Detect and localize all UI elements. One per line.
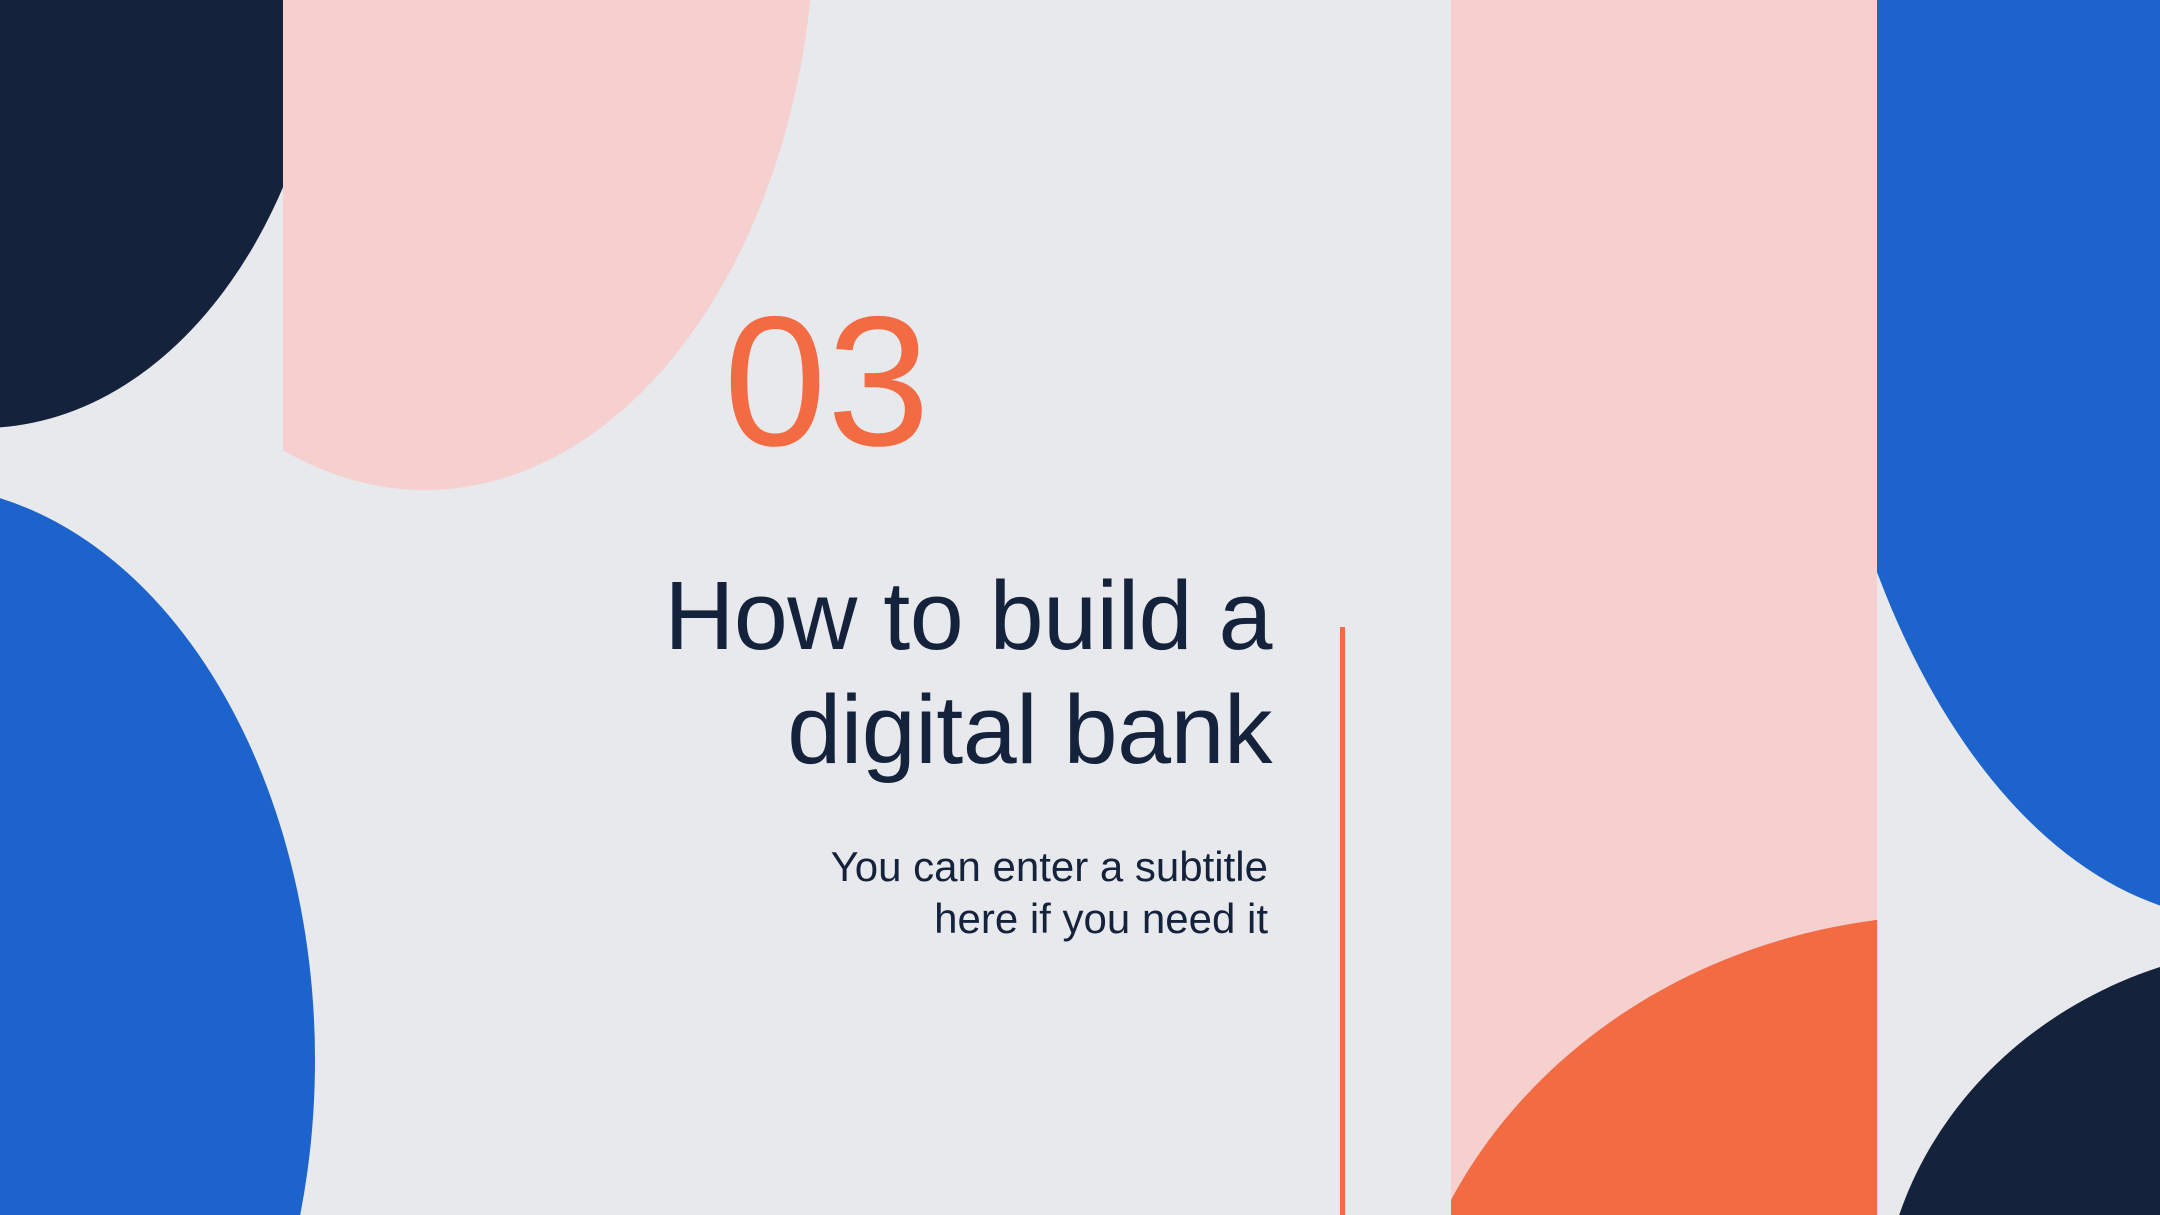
page-title: How to build a digital bank [400, 559, 1272, 788]
title-line-2: digital bank [787, 675, 1272, 784]
section-number: 03 [400, 290, 1272, 475]
subtitle-line-2: here if you need it [934, 895, 1268, 942]
orange-vertical-rule [1340, 627, 1345, 1215]
page-subtitle: You can enter a subtitle here if you nee… [400, 841, 1272, 946]
slide-canvas: 03 How to build a digital bank You can e… [0, 0, 2160, 1215]
subtitle-line-1: You can enter a subtitle [831, 843, 1268, 890]
title-line-1: How to build a [664, 561, 1272, 670]
slide-content: 03 How to build a digital bank You can e… [400, 290, 1272, 946]
